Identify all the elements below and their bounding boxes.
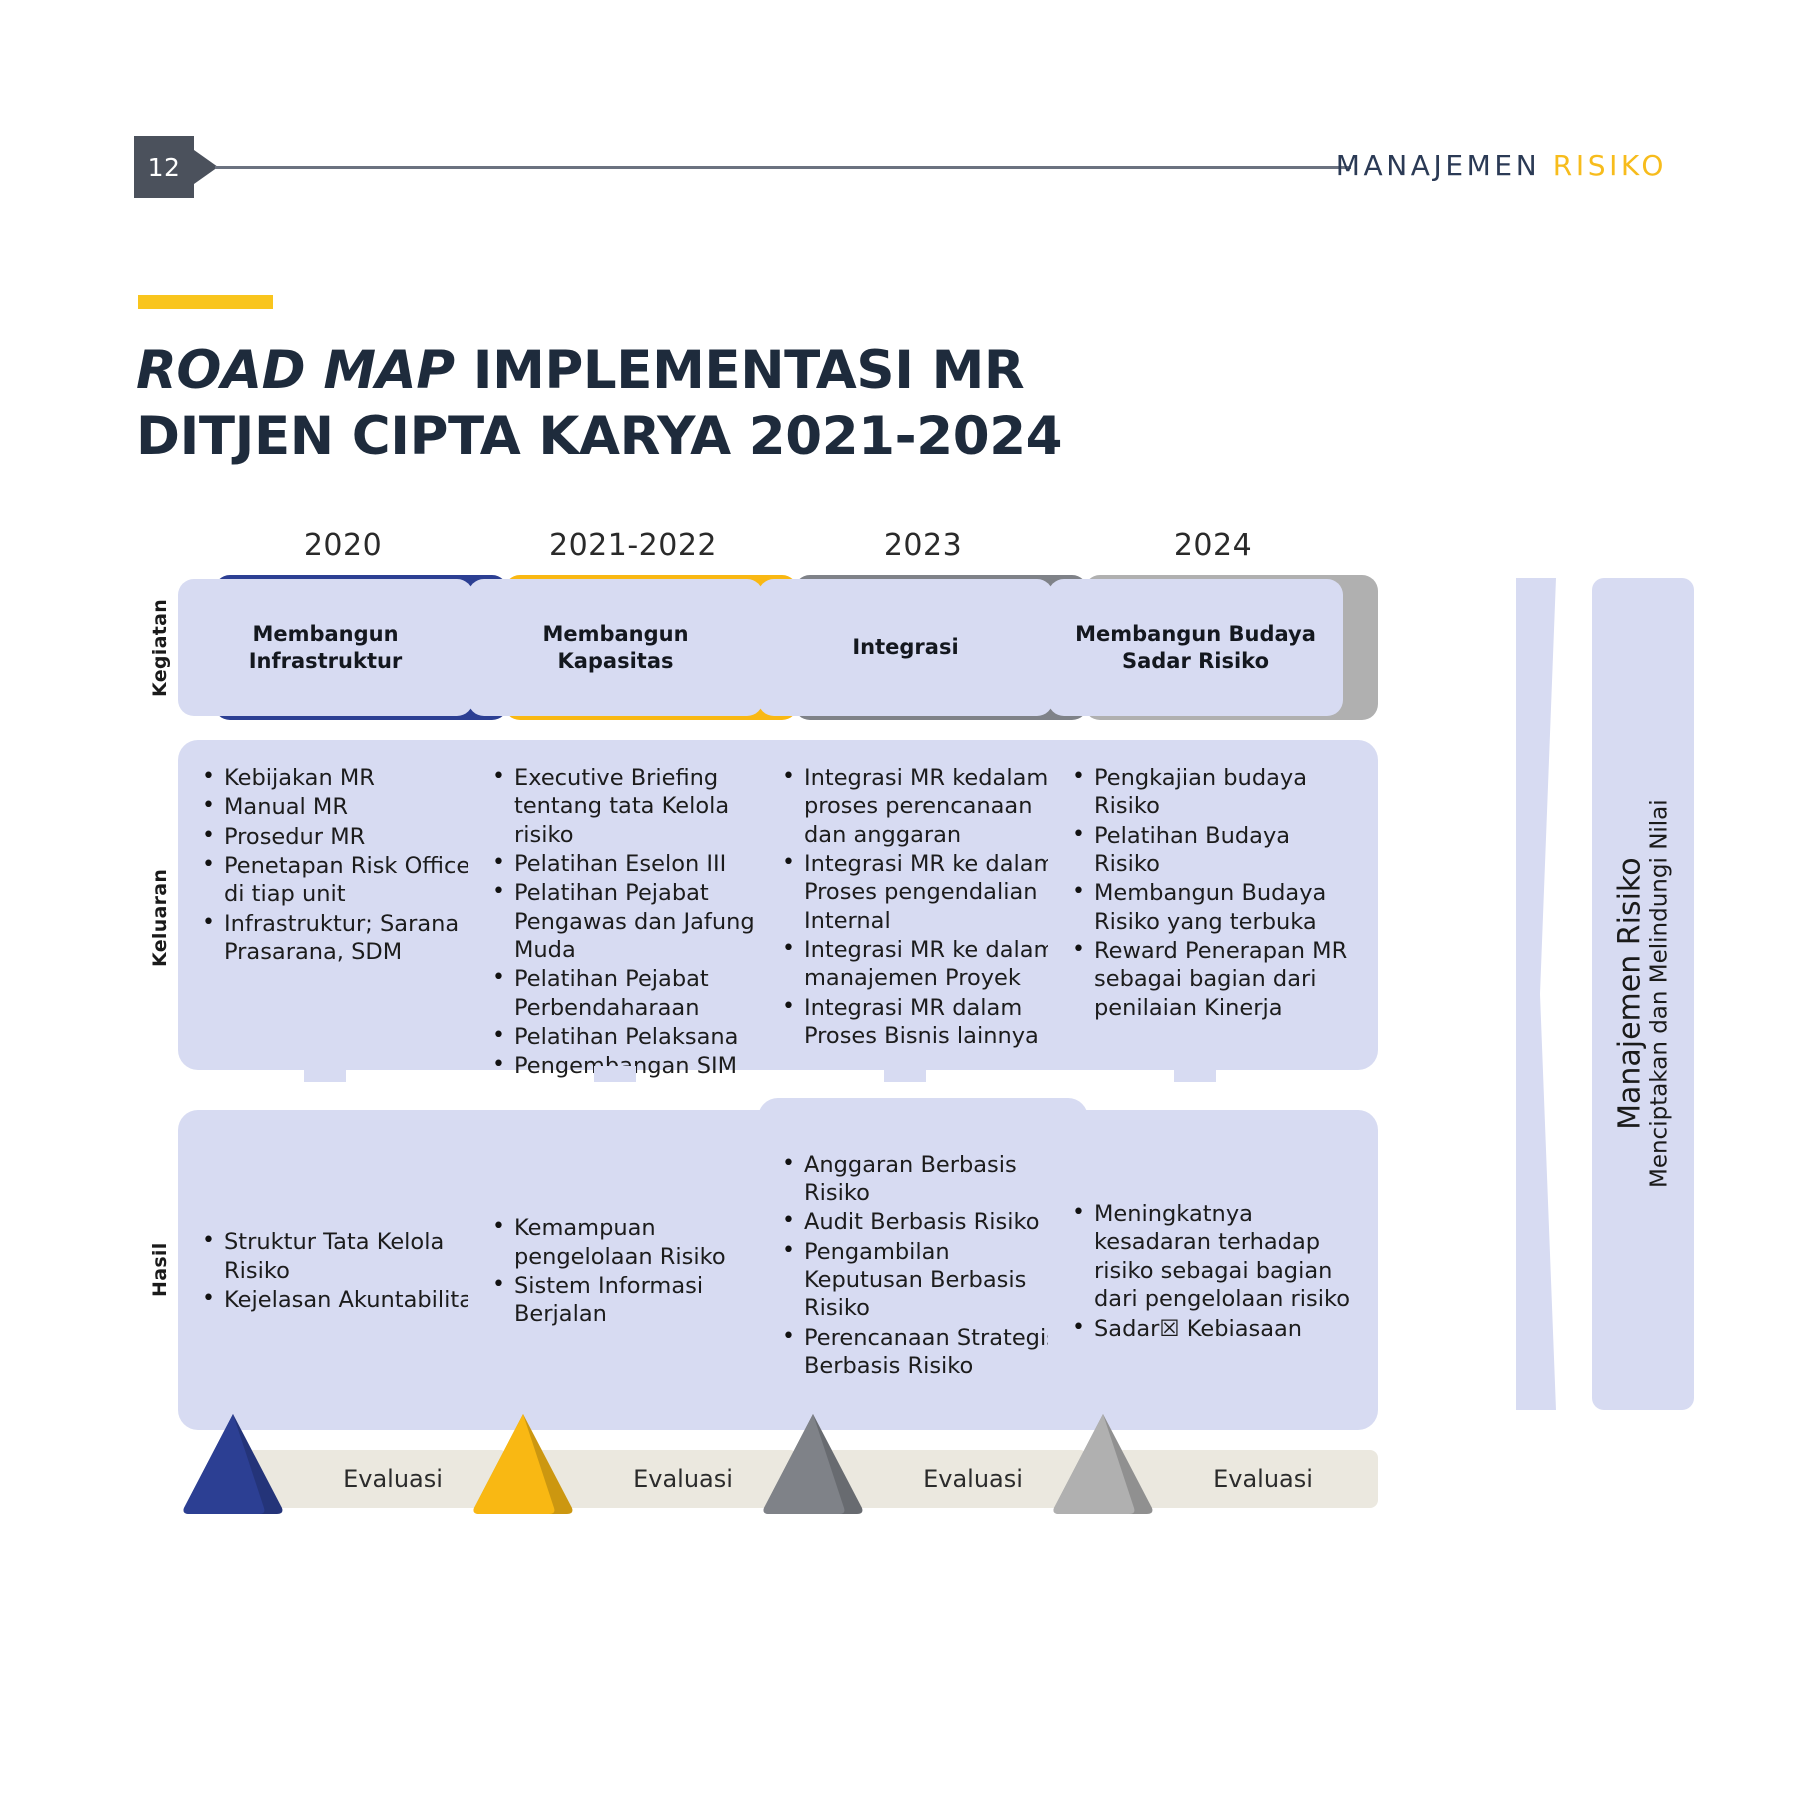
outcome-item: Meningkatnya kesadaran terhadap risiko s… xyxy=(1070,1200,1362,1313)
activity-card-2023[interactable]: Integrasi xyxy=(758,575,1088,720)
evaluation-triangle-icon xyxy=(178,1408,288,1518)
evaluation-label: Evaluasi xyxy=(1213,1465,1313,1493)
panel-connector-notch xyxy=(594,1066,636,1082)
output-item: Integrasi MR ke dalam Proses pengendalia… xyxy=(780,850,1072,935)
output-item: Pelatihan Pelaksana xyxy=(490,1023,782,1051)
output-item: Pelatihan Budaya Risiko xyxy=(1070,822,1362,879)
output-panel-2020[interactable]: Kebijakan MRManual MRProsedur MRPenetapa… xyxy=(178,740,508,1070)
outcome-panel-2024-list: Meningkatnya kesadaran terhadap risiko s… xyxy=(1070,1200,1362,1344)
output-item: Integrasi MR kedalam proses perencanaan … xyxy=(780,764,1072,849)
evaluation-triangle-icon xyxy=(1048,1408,1158,1518)
output-item: Penetapan Risk Officer di tiap unit xyxy=(200,852,492,909)
evaluation-triangle-icon xyxy=(468,1408,578,1518)
activity-card-label: MembangunKapasitas xyxy=(542,621,688,675)
year-label-2023: 2023 xyxy=(758,528,1088,563)
outcome-item: Kejelasan Akuntabilitas xyxy=(200,1286,492,1314)
evaluation-strip-2024[interactable]: Evaluasi xyxy=(1048,1440,1378,1520)
banner-main-text: Manajemen Risiko xyxy=(1613,800,1647,1189)
outcome-item: Perencanaan Strategis Berbasis Risiko xyxy=(780,1324,1072,1381)
activity-card-label: Membangun BudayaSadar Risiko xyxy=(1075,621,1316,675)
output-item: Executive Briefing tentang tata Kelola r… xyxy=(490,764,782,849)
evaluation-strip-2021-2022[interactable]: Evaluasi xyxy=(468,1440,798,1520)
activity-card-2020[interactable]: MembangunInfrastruktur xyxy=(178,575,508,720)
risk-management-banner: Manajemen Risiko Menciptakan dan Melindu… xyxy=(1592,578,1694,1410)
row-label-kegiatan: Kegiatan xyxy=(140,575,180,720)
activity-card-body: Integrasi xyxy=(758,579,1053,716)
output-item: Integrasi MR dalam Proses Bisnis lainnya xyxy=(780,994,1072,1051)
outcome-panel-2023[interactable]: Anggaran Berbasis RisikoAudit Berbasis R… xyxy=(758,1098,1088,1430)
output-panel-2024[interactable]: Pengkajian budaya RisikoPelatihan Budaya… xyxy=(1048,740,1378,1070)
evaluation-label: Evaluasi xyxy=(923,1465,1023,1493)
outcome-item: Audit Berbasis Risiko xyxy=(780,1208,1072,1236)
evaluation-strip-2023[interactable]: Evaluasi xyxy=(758,1440,1088,1520)
output-panel-2024-list: Pengkajian budaya RisikoPelatihan Budaya… xyxy=(1070,764,1362,1022)
row-label-keluaran: Keluaran xyxy=(140,740,180,1095)
output-panel-2021-2022[interactable]: Executive Briefing tentang tata Kelola r… xyxy=(468,740,798,1070)
output-panel-2023[interactable]: Integrasi MR kedalam proses perencanaan … xyxy=(758,740,1088,1070)
activity-card-body: Membangun BudayaSadar Risiko xyxy=(1048,579,1343,716)
taper-arrow-shape xyxy=(1510,578,1562,1410)
evaluation-triangle-icon xyxy=(758,1408,868,1518)
outcome-panel-2024[interactable]: Meningkatnya kesadaran terhadap risiko s… xyxy=(1048,1110,1378,1430)
year-label-2021-2022: 2021-2022 xyxy=(468,528,798,563)
outcome-item: Sistem Informasi Berjalan xyxy=(490,1272,782,1329)
banner-sub-text: Menciptakan dan Melindungi Nilai xyxy=(1647,800,1673,1189)
evaluation-label: Evaluasi xyxy=(343,1465,443,1493)
output-item: Pengkajian budaya Risiko xyxy=(1070,764,1362,821)
page-canvas: 12 MANAJEMEN RISIKO ROAD MAP IMPLEMENTAS… xyxy=(0,0,1800,1800)
output-item: Pengembangan SIM xyxy=(490,1052,782,1080)
output-item: Reward Penerapan MR sebagai bagian dari … xyxy=(1070,937,1362,1022)
output-item: Integrasi MR ke dalam manajemen Proyek xyxy=(780,936,1072,993)
panel-connector-notch xyxy=(884,1066,926,1082)
outcome-panel-2020-list: Struktur Tata Kelola RisikoKejelasan Aku… xyxy=(200,1228,492,1315)
output-item: Kebijakan MR xyxy=(200,764,492,792)
evaluation-strip-2020[interactable]: Evaluasi xyxy=(178,1440,508,1520)
panel-connector-notch xyxy=(1174,1066,1216,1082)
activity-card-label: Integrasi xyxy=(852,634,958,661)
banner-text-block: Manajemen Risiko Menciptakan dan Melindu… xyxy=(1613,800,1672,1189)
roadmap-diagram: Kegiatan Keluaran Hasil 2020MembangunInf… xyxy=(0,0,1800,1800)
outcome-panel-2020[interactable]: Struktur Tata Kelola RisikoKejelasan Aku… xyxy=(178,1110,508,1430)
output-item: Prosedur MR xyxy=(200,823,492,851)
output-item: Pelatihan Pejabat Pengawas dan Jafung Mu… xyxy=(490,879,782,964)
output-item: Infrastruktur; Sarana Prasarana, SDM xyxy=(200,910,492,967)
outcome-panel-2023-list: Anggaran Berbasis RisikoAudit Berbasis R… xyxy=(780,1151,1072,1382)
output-item: Manual MR xyxy=(200,793,492,821)
row-label-hasil: Hasil xyxy=(140,1110,180,1430)
activity-card-2024[interactable]: Membangun BudayaSadar Risiko xyxy=(1048,575,1378,720)
panel-connector-notch xyxy=(304,1066,346,1082)
output-panel-2023-list: Integrasi MR kedalam proses perencanaan … xyxy=(780,764,1072,1050)
outcome-item: Kemampuan pengelolaan Risiko xyxy=(490,1214,782,1271)
activity-card-body: MembangunKapasitas xyxy=(468,579,763,716)
outcome-item: Pengambilan Keputusan Berbasis Risiko xyxy=(780,1238,1072,1323)
activity-card-body: MembangunInfrastruktur xyxy=(178,579,473,716)
year-label-2020: 2020 xyxy=(178,528,508,563)
output-item: Pelatihan Eselon III xyxy=(490,850,782,878)
output-panel-2020-list: Kebijakan MRManual MRProsedur MRPenetapa… xyxy=(200,764,492,966)
outcome-item: Sadar☒ Kebiasaan xyxy=(1070,1315,1362,1343)
outcome-panel-2021-2022-list: Kemampuan pengelolaan RisikoSistem Infor… xyxy=(490,1214,782,1329)
outcome-panel-2021-2022[interactable]: Kemampuan pengelolaan RisikoSistem Infor… xyxy=(468,1110,798,1430)
outcome-item: Struktur Tata Kelola Risiko xyxy=(200,1228,492,1285)
output-item: Pelatihan Pejabat Perbendaharaan xyxy=(490,965,782,1022)
activity-card-label: MembangunInfrastruktur xyxy=(249,621,403,675)
output-panel-2021-2022-list: Executive Briefing tentang tata Kelola r… xyxy=(490,764,782,1081)
year-label-2024: 2024 xyxy=(1048,528,1378,563)
output-item: Membangun Budaya Risiko yang terbuka xyxy=(1070,879,1362,936)
evaluation-label: Evaluasi xyxy=(633,1465,733,1493)
outcome-item: Anggaran Berbasis Risiko xyxy=(780,1151,1072,1208)
activity-card-2021-2022[interactable]: MembangunKapasitas xyxy=(468,575,798,720)
